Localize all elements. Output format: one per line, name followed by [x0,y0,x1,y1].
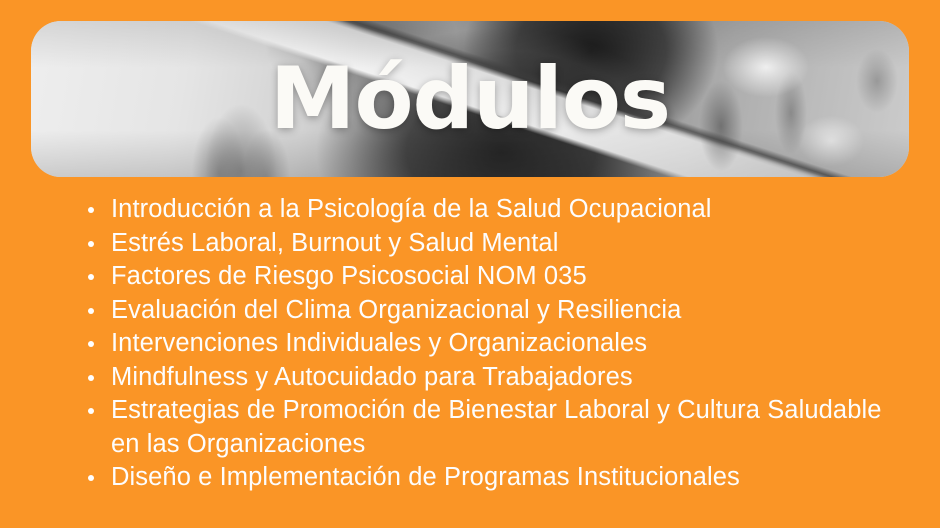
list-item: Mindfulness y Autocuidado para Trabajado… [88,361,888,395]
list-item-label: Diseño e Implementación de Programas Ins… [111,463,740,491]
bullet-icon [88,207,94,213]
bullet-icon [88,308,94,314]
list-item: Introducción a la Psicología de la Salud… [88,193,888,227]
list-item: Diseño e Implementación de Programas Ins… [88,461,888,495]
list-item-label: Mindfulness y Autocuidado para Trabajado… [111,363,633,391]
list-item-label: Introducción a la Psicología de la Salud… [111,195,712,223]
list-item: Evaluación del Clima Organizacional y Re… [88,294,888,328]
bullet-icon [88,341,94,347]
list-item: Estrategias de Promoción de Bienestar La… [88,394,888,461]
bullet-icon [88,241,94,247]
list-item: Factores de Riesgo Psicosocial NOM 035 [88,260,888,294]
list-item-label: Estrés Laboral, Burnout y Salud Mental [111,229,558,257]
bullet-icon [88,274,94,280]
list-item: Intervenciones Individuales y Organizaci… [88,327,888,361]
page-title: Módulos [31,56,909,142]
bullet-icon [88,375,94,381]
bullet-icon [88,475,94,481]
hero-card: Módulos [31,21,909,177]
bullet-icon [88,408,94,414]
list-item-label: Intervenciones Individuales y Organizaci… [111,329,647,357]
list-item-label: Factores de Riesgo Psicosocial NOM 035 [111,262,587,290]
modules-list: Introducción a la Psicología de la Salud… [88,193,888,495]
list-item-label: Estrategias de Promoción de Bienestar La… [111,396,882,458]
list-item-label: Evaluación del Clima Organizacional y Re… [111,296,681,324]
list-item: Estrés Laboral, Burnout y Salud Mental [88,227,888,261]
slide-modulos: Módulos Introducción a la Psicología de … [0,0,940,528]
